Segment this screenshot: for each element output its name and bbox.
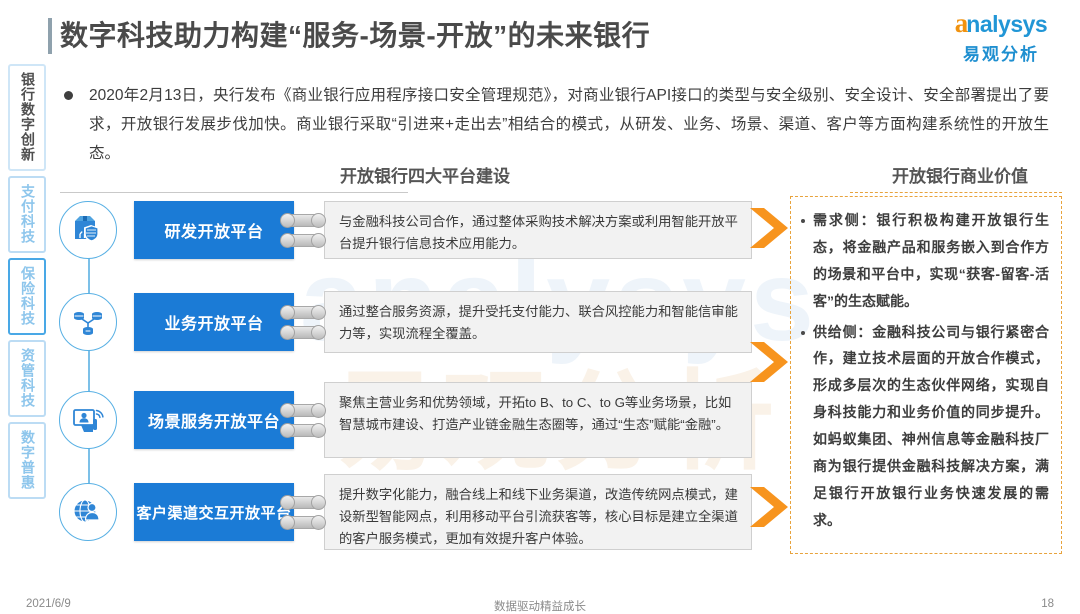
link-bar-icon	[282, 214, 324, 227]
value-list-item: 需求侧：银行积极构建开放银行生态，将金融产品和服务嵌入到合作方的场景和平台中，实…	[801, 207, 1049, 315]
chevron-right-icon	[748, 485, 794, 529]
database-network-icon	[59, 293, 117, 351]
platform-link-connector-icon	[282, 201, 318, 259]
section-rule-orange-dashed	[850, 192, 1062, 193]
slide-root: analysys 易观分析 数字科技助力构建“服务-场景-开放”的未来银行 a …	[0, 0, 1080, 608]
sidebar-item-payment-tech[interactable]: 支付科技	[8, 176, 46, 253]
value-item-text: 需求侧：银行积极构建开放银行生态，将金融产品和服务嵌入到合作方的场景和平台中，实…	[813, 207, 1049, 315]
section-header-left: 开放银行四大平台建设	[340, 162, 740, 193]
platform-row: 研发开放平台 与金融科技公司合作，通过整体采购技术解决方案或利用智能开放平台提升…	[56, 198, 752, 262]
platform-name-box[interactable]: 研发开放平台	[134, 201, 294, 259]
platform-row: 场景服务开放平台 聚焦主营业务和优势领域，开拓to B、to C、to G等业务…	[56, 382, 752, 458]
platform-description: 与金融科技公司合作，通过整体采购技术解决方案或利用智能开放平台提升银行信息技术应…	[324, 201, 752, 259]
footer-slogan: 数据驱动精益成长	[0, 598, 1080, 614]
sidebar-item-digital-inclusive-finance[interactable]: 数字普惠	[8, 422, 46, 499]
sidebar-item-bank-digital-innovation[interactable]: 银行数字创新	[8, 64, 46, 171]
platform-icon-slot	[56, 388, 120, 452]
section-title-platforms: 开放银行四大平台建设	[340, 162, 740, 192]
platform-description: 提升数字化能力，融合线上和线下业务渠道，改造传统网点模式，建设新型智能网点，利用…	[324, 474, 752, 550]
business-value-panel: 需求侧：银行积极构建开放银行生态，将金融产品和服务嵌入到合作方的场景和平台中，实…	[790, 196, 1062, 554]
section-title-value: 开放银行商业价值	[850, 162, 1070, 192]
sidebar-vertical-tabs[interactable]: 银行数字创新 支付科技 保险科技 资管科技 数字普惠	[8, 64, 48, 504]
sidebar-item-asset-management-tech[interactable]: 资管科技	[8, 340, 46, 417]
logo-word: nalysys	[966, 13, 1047, 36]
slide-header: 数字科技助力构建“服务-场景-开放”的未来银行 a nalysys 易观分析	[0, 0, 1080, 66]
screen-user-signal-icon	[59, 391, 117, 449]
link-bar-icon	[282, 404, 324, 417]
section-header-right: 开放银行商业价值	[850, 162, 1070, 193]
platform-name-box[interactable]: 场景服务开放平台	[134, 391, 294, 449]
platform-description: 聚焦主营业务和优势领域，开拓to B、to C、to G等业务场景，比如智慧城市…	[324, 382, 752, 458]
platform-icon-slot	[56, 480, 120, 544]
platform-row: 业务开放平台 通过整合服务资源，提升受托支付能力、联合风控能力和智能信审能力等，…	[56, 290, 752, 354]
bullet-dot-icon	[801, 219, 805, 223]
platform-name: 业务开放平台	[164, 310, 263, 334]
platform-icon-slot	[56, 290, 120, 354]
platform-row: 客户渠道交互开放平台 提升数字化能力，融合线上和线下业务渠道，改造传统网点模式，…	[56, 474, 752, 550]
package-shield-icon	[59, 201, 117, 259]
link-bar-icon	[282, 496, 324, 509]
platform-icon-slot	[56, 198, 120, 262]
value-list-item: 供给侧：金融科技公司与银行紧密合作，建立技术层面的开放合作模式，形成多层次的生态…	[801, 319, 1049, 534]
sidebar-item-label: 保险科技	[19, 266, 35, 326]
bullet-dot-icon	[64, 91, 73, 100]
platform-name-box[interactable]: 业务开放平台	[134, 293, 294, 351]
platform-link-connector-icon	[282, 391, 318, 449]
chevron-right-icon	[748, 340, 794, 384]
logo-wordmark: a nalysys	[940, 10, 1062, 38]
link-bar-icon	[282, 234, 324, 247]
sidebar-item-label: 资管科技	[19, 348, 35, 408]
title-accent-bar	[48, 18, 52, 54]
sidebar-item-label: 银行数字创新	[19, 72, 35, 162]
platform-name: 场景服务开放平台	[148, 408, 280, 432]
logo-a-mark-icon: a	[955, 10, 969, 37]
intro-paragraph: 2020年2月13日，央行发布《商业银行应用程序接口安全管理规范》，对商业银行A…	[64, 82, 1064, 168]
link-bar-icon	[282, 516, 324, 529]
section-rule-gray	[60, 192, 408, 193]
page-title: 数字科技助力构建“服务-场景-开放”的未来银行	[60, 14, 650, 54]
logo-chinese-name: 易观分析	[940, 40, 1062, 65]
sidebar-item-label: 数字普惠	[19, 430, 35, 490]
footer-page-number: 18	[1041, 598, 1054, 610]
platform-name-box[interactable]: 客户渠道交互开放平台	[134, 483, 294, 541]
intro-text: 2020年2月13日，央行发布《商业银行应用程序接口安全管理规范》，对商业银行A…	[89, 82, 1049, 168]
bullet-dot-icon	[801, 331, 805, 335]
platform-link-connector-icon	[282, 293, 318, 351]
analysys-logo: a nalysys 易观分析	[940, 10, 1062, 62]
link-bar-icon	[282, 326, 324, 339]
sidebar-item-insurance-tech[interactable]: 保险科技	[8, 258, 46, 335]
platform-name: 研发开放平台	[164, 218, 263, 242]
sidebar-item-label: 支付科技	[19, 184, 35, 244]
platform-name: 客户渠道交互开放平台	[136, 502, 291, 523]
platform-link-connector-icon	[282, 483, 318, 541]
platform-description: 通过整合服务资源，提升受托支付能力、联合风控能力和智能信审能力等，实现流程全覆盖…	[324, 291, 752, 353]
globe-user-icon	[59, 483, 117, 541]
value-item-text: 供给侧：金融科技公司与银行紧密合作，建立技术层面的开放合作模式，形成多层次的生态…	[813, 319, 1049, 534]
link-bar-icon	[282, 306, 324, 319]
chevron-right-icon	[748, 206, 794, 250]
link-bar-icon	[282, 424, 324, 437]
